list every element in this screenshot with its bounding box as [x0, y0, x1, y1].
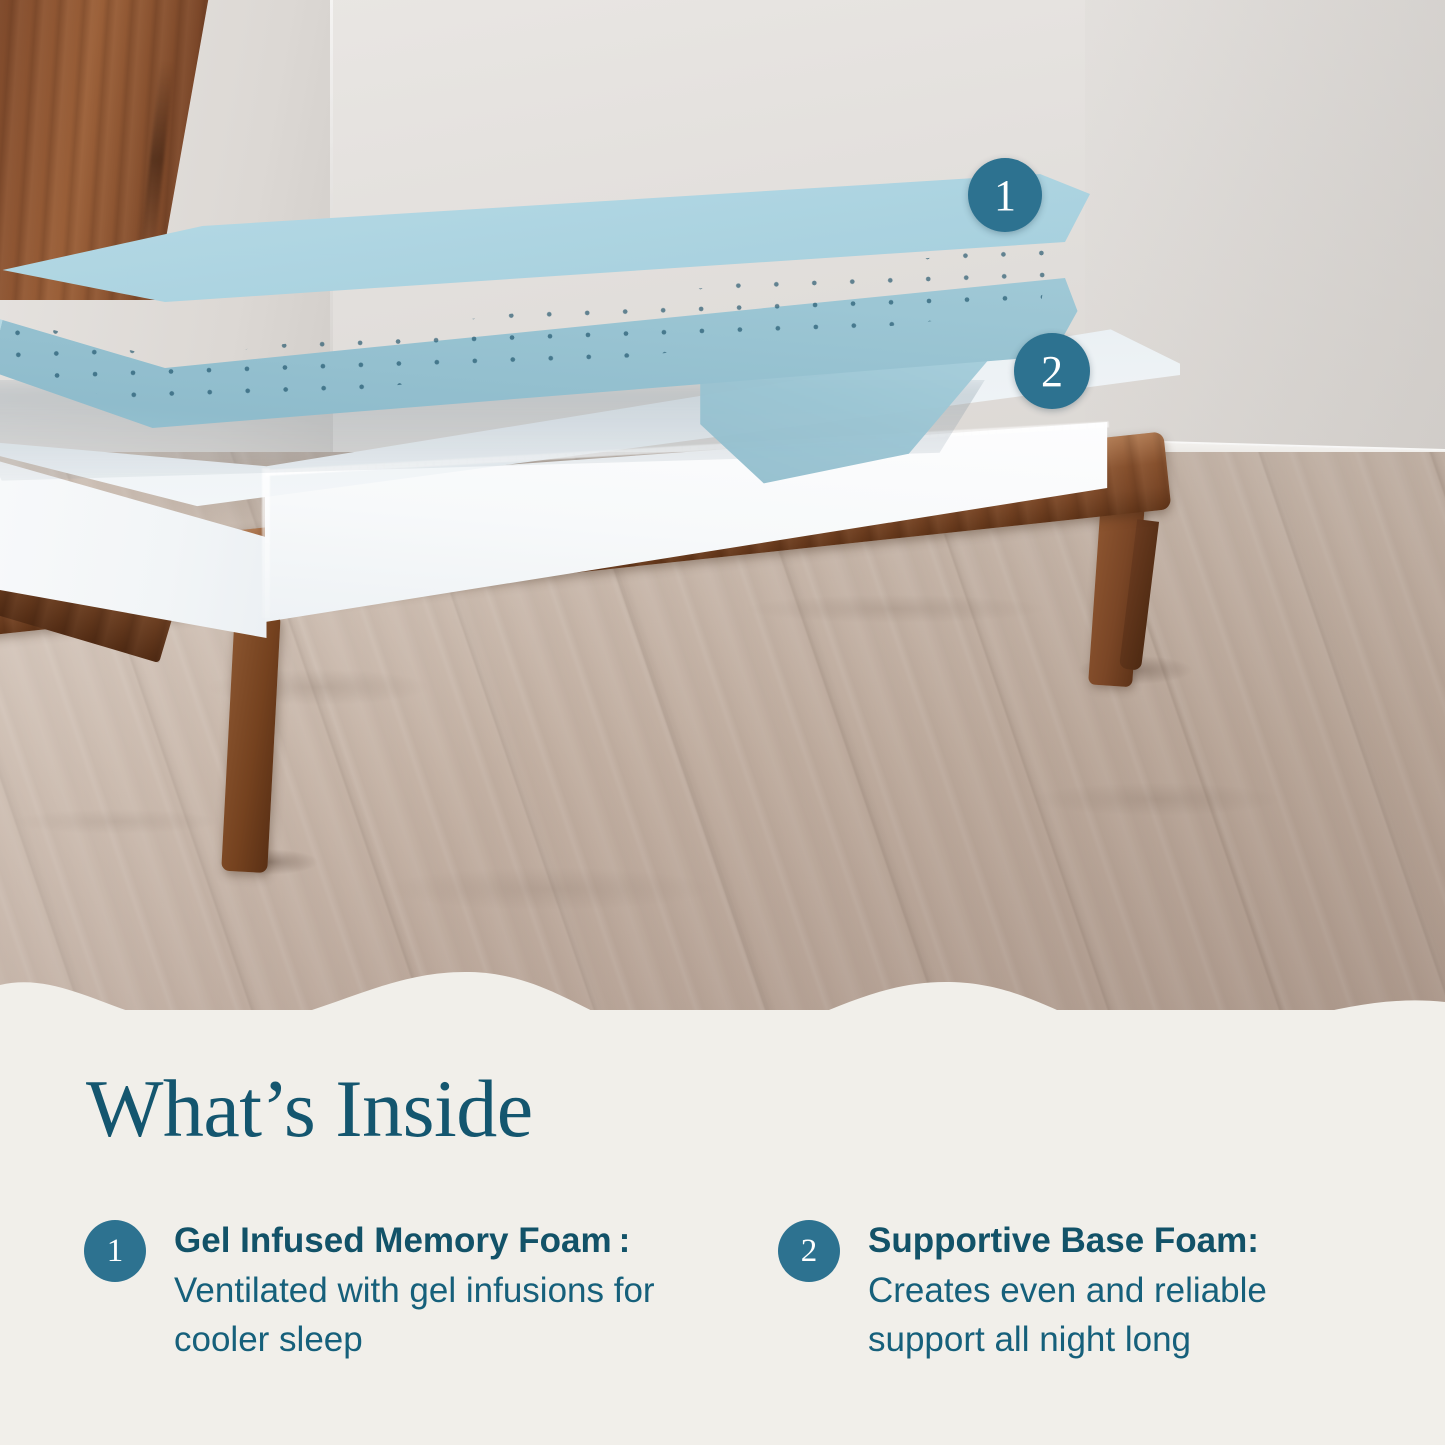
page-title: What’s Inside [86, 1068, 533, 1150]
feature-lead-1: Gel Infused Memory Foam : [174, 1221, 630, 1260]
product-photo: 1 2 [0, 0, 1445, 1010]
feature-description-2: Creates even and reliable support all ni… [868, 1271, 1267, 1360]
feature-lead-2: Supportive Base Foam: [868, 1221, 1259, 1260]
base-foam-corner-highlight [262, 468, 270, 618]
gel-foam-layer [0, 170, 1090, 470]
feature-text-1: Gel Infused Memory Foam : Ventilated wit… [174, 1216, 684, 1365]
feature-badge-1: 1 [84, 1220, 146, 1282]
photo-callout-badge-1[interactable]: 1 [968, 158, 1042, 232]
feature-item-1: 1 Gel Infused Memory Foam : Ventilated w… [84, 1216, 684, 1365]
feature-badge-2: 2 [778, 1220, 840, 1282]
infographic-page: 1 2 What’s Inside 1 Gel Infused Memory F… [0, 0, 1445, 1445]
feature-item-2: 2 Supportive Base Foam: Creates even and… [778, 1216, 1378, 1365]
feature-text-2: Supportive Base Foam: Creates even and r… [868, 1216, 1378, 1365]
photo-callout-badge-2[interactable]: 2 [1014, 333, 1090, 409]
feature-description-1: Ventilated with gel infusions for cooler… [174, 1271, 655, 1360]
